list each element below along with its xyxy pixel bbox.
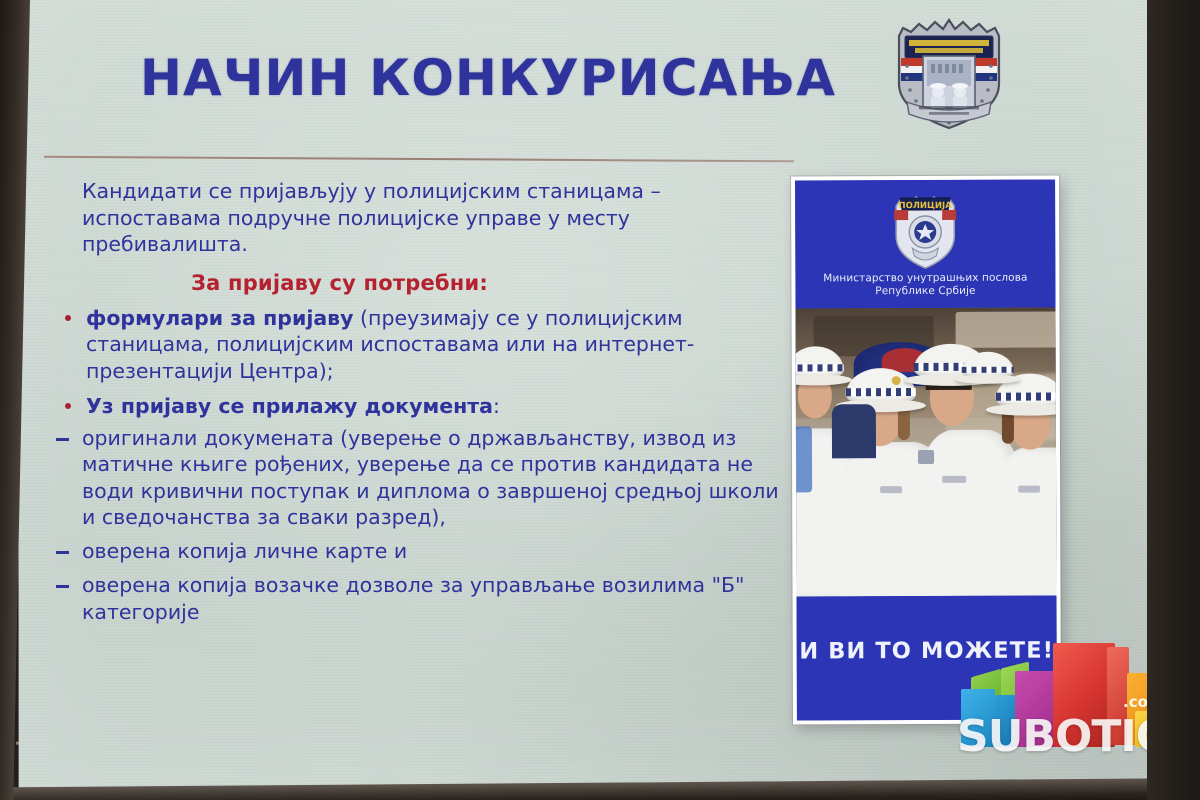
dash-1-line-5: за сваки разред), (257, 505, 446, 529)
slide-body: Кандидати се пријављују у полицијским ст… (52, 178, 797, 627)
list-item: оригинали докумената (уверење о држављан… (52, 425, 797, 530)
police-badge-icon: ПОЛИЦИЈА (888, 188, 962, 272)
list-item: Уз пријаву се прилажу документа: (52, 393, 797, 419)
bullet-1-bold: формулари за пријаву (86, 306, 354, 330)
brochure-ministry-label: Министарство унутрашњих послова Републик… (795, 272, 1055, 299)
bullet-1-rest-2: станицама, полицијским испоставама или н… (86, 332, 578, 356)
divider-top (44, 156, 794, 163)
intro-line-1: Кандидати се пријављују у полицијским ст… (82, 178, 797, 205)
dash-marker-icon (56, 585, 69, 588)
bullet-dot-icon (65, 315, 71, 321)
dash-marker-icon (56, 551, 69, 554)
intro-line-3: пребивалишта. (82, 231, 797, 258)
brochure-header: ПОЛИЦИЈА Министарство унутрашњих послова… (795, 180, 1055, 309)
police-training-centre-crest-icon (885, 6, 1013, 134)
bullet-2-rest-1: : (493, 394, 500, 418)
page-title: НАЧИН КОНКУРИСАЊА (140, 52, 836, 105)
intro-line-2: испоставама подручне полицијске управе у… (82, 205, 797, 232)
bullet-2-bold: Уз пријаву се прилажу документа (86, 394, 493, 418)
brochure-photo-police-cadets (796, 308, 1057, 597)
bullet-1-rest-1: (преузимају се у полицијским (354, 306, 683, 330)
dash-3-line-1: оверена копија возачке дозволе за управљ… (82, 573, 595, 597)
bullet-dot-icon (65, 403, 71, 409)
intro-paragraph: Кандидати се пријављују у полицијским ст… (52, 178, 797, 258)
ministry-line-2: Републике Србије (795, 284, 1055, 298)
svg-text:ПОЛИЦИЈА: ПОЛИЦИЈА (898, 201, 952, 211)
projector-scene: НАЧИН КОНКУРИСАЊА Кандидати се пријављуј… (0, 0, 1200, 800)
dash-1-line-1: оригинали докумената (уверење о држављан… (82, 426, 636, 450)
dash-2-line-1: оверена копија личне карте и (82, 539, 407, 563)
screen-edge-right (1147, 0, 1200, 800)
list-item: оверена копија личне карте и (52, 538, 797, 564)
red-subheading: За пријаву су потребни: (52, 270, 797, 297)
list-item: оверена копија возачке дозволе за управљ… (52, 572, 797, 624)
list-item: формулари за пријаву (преузимају се у по… (52, 305, 797, 384)
ministry-line-1: Министарство унутрашњих послова (795, 272, 1055, 286)
dash-marker-icon (56, 438, 69, 441)
